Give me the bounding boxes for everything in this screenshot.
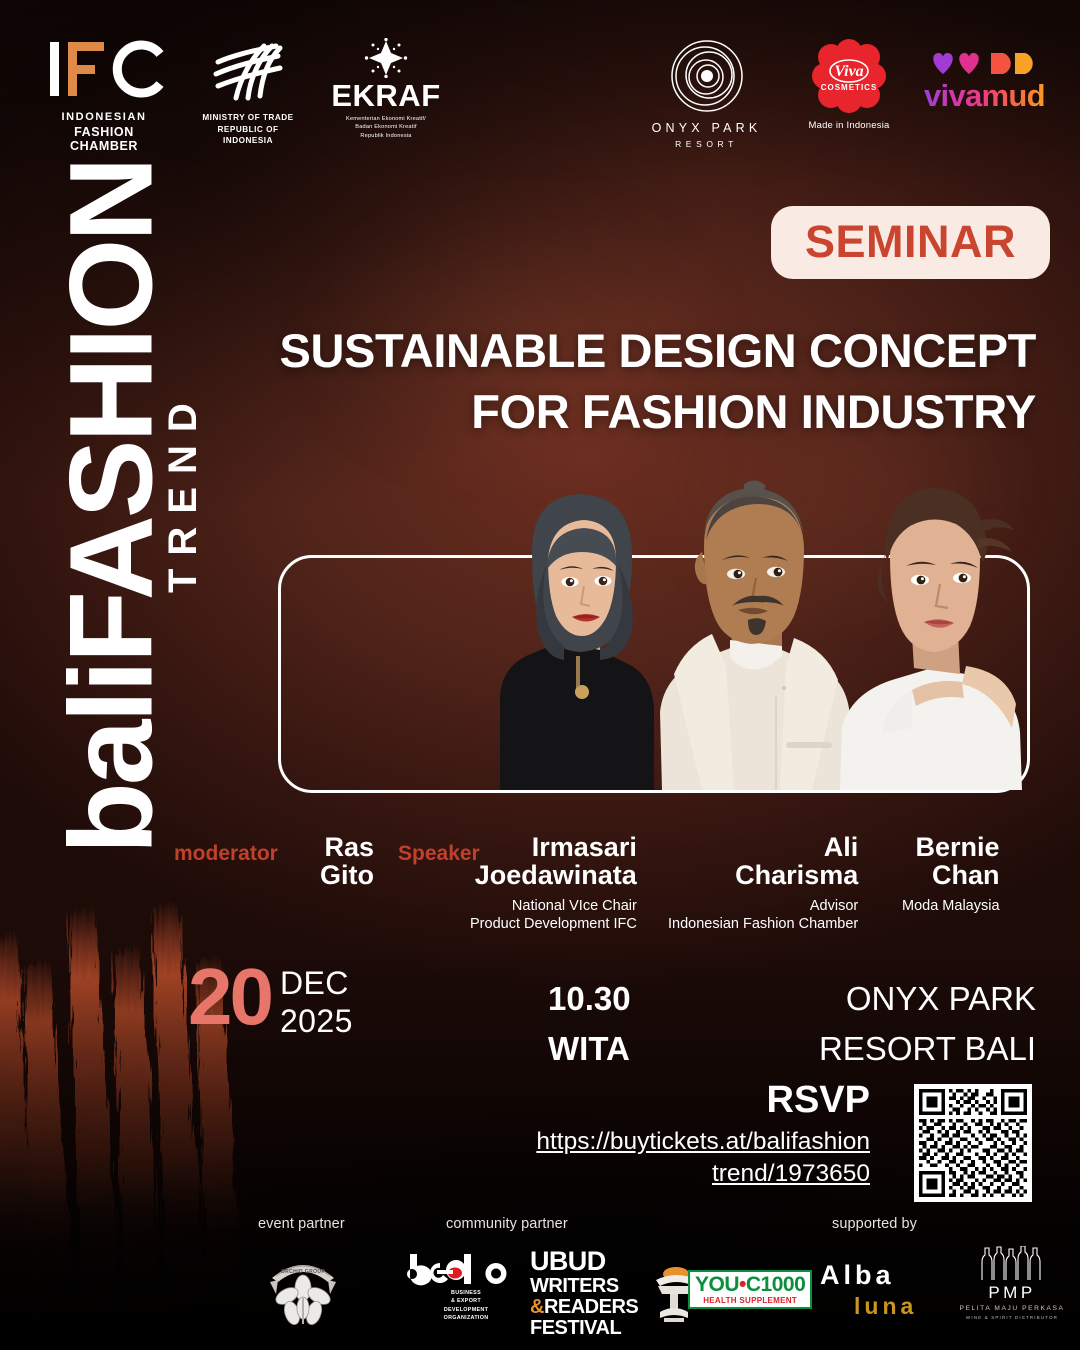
logo-onyx-park-resort: ONYX PARK RESORT xyxy=(639,38,774,149)
role-moderator: moderator xyxy=(174,842,278,866)
rsvp-qr-code[interactable] xyxy=(914,1084,1032,1202)
ubud-line-3: &READERS xyxy=(530,1297,638,1317)
onyx-wordmark: ONYX PARK xyxy=(639,121,774,135)
organizer-logo-group: INDONESIAN FASHION CHAMBER MINISTRY OF T… xyxy=(42,38,442,153)
headline-line-1: SUSTAINABLE DESIGN CONCEPT xyxy=(276,320,1036,381)
rsvp-link[interactable]: https://buytickets.at/balifashion trend/… xyxy=(490,1126,870,1190)
ubud-wordmark: UBUD WRITERS &READERS FESTIVAL xyxy=(530,1248,638,1338)
logo-ubud-writers-readers-festival: UBUD WRITERS &READERS FESTIVAL xyxy=(530,1248,704,1338)
viva-flower-icon: Viva COSMETICS xyxy=(807,38,891,114)
label-supported-by: supported by xyxy=(832,1216,917,1232)
bedo-wordmark-icon xyxy=(406,1252,526,1286)
event-details-row: 20 DEC 2025 10.30 WITA ONYX PARK RESORT … xyxy=(0,960,1080,1060)
date-day: 20 xyxy=(188,960,271,1034)
rsvp-text-block: RSVP https://buytickets.at/balifashion t… xyxy=(490,1080,870,1189)
ekraf-sub2: Badan Ekonomi Kreatif xyxy=(330,123,442,131)
ubud-line-4: FESTIVAL xyxy=(530,1318,638,1338)
svg-text:ORCHID GROUP: ORCHID GROUP xyxy=(281,1269,326,1275)
speaker-title-line1: Advisor xyxy=(668,897,858,916)
page-title: SUSTAINABLE DESIGN CONCEPT FOR FASHION I… xyxy=(276,320,1036,442)
logo-pmp: PMP PELITA MAJU PERKASA WINE & SPIRIT DI… xyxy=(958,1246,1066,1320)
logo-orchid-group: ORCHID GROUP xyxy=(262,1248,344,1335)
venue-line-2: RESORT BALI xyxy=(819,1024,1036,1074)
ekraf-sub3: Republik Indonesia xyxy=(330,132,442,140)
bedo-sub4: ORGANIZATION xyxy=(406,1314,526,1322)
ifc-mark-icon xyxy=(42,38,166,100)
brand-title-main: baliFASHION xyxy=(58,214,167,854)
pmp-sub-2: WINE & SPIRIT DISTRIBUTOR xyxy=(958,1315,1066,1320)
logo-alba-luna: Alba luna xyxy=(820,1262,917,1318)
speaker-name-line2: Charisma xyxy=(668,862,858,890)
event-date: 20 DEC 2025 xyxy=(188,960,353,1038)
time-zone: WITA xyxy=(548,1024,631,1074)
rsvp-heading: RSVP xyxy=(490,1080,870,1122)
logo-indonesian-fashion-chamber: INDONESIAN FASHION CHAMBER xyxy=(42,38,166,153)
speaker-block-ali-charisma: Ali Charisma Advisor Indonesian Fashion … xyxy=(668,834,858,934)
label-event-partner: event partner xyxy=(258,1216,345,1232)
svg-text:COSMETICS: COSMETICS xyxy=(821,83,878,92)
onyx-sub: RESORT xyxy=(639,139,774,149)
ekraf-star-icon xyxy=(364,38,408,78)
youc-word-a: YOU xyxy=(695,1273,739,1296)
event-time: 10.30 WITA xyxy=(548,974,631,1073)
speaker-title-line1: Moda Malaysia xyxy=(902,897,1000,916)
luna-wordmark: luna xyxy=(854,1295,917,1318)
date-month: DEC xyxy=(280,967,353,1001)
logo-you-c1000: YOU•C1000 HEALTH SUPPLEMENT xyxy=(688,1270,812,1309)
partner-logo-group: ONYX PARK RESORT Viva COSMETICS M xyxy=(639,38,1046,149)
youc-wordmark: YOU•C1000 xyxy=(695,1274,805,1295)
speaker-photo-bernie-chan xyxy=(816,460,1040,790)
date-year: 2025 xyxy=(280,1005,353,1039)
brand-title-sub: TREND xyxy=(163,263,203,593)
speaker-name-line1: Irmasari xyxy=(470,834,637,862)
speaker-credits-row: moderator Ras Gito Speaker Irmasari Joed… xyxy=(160,818,1060,930)
bedo-sub2: & EXPORT xyxy=(406,1297,526,1305)
venue-line-1: ONYX PARK xyxy=(819,974,1036,1024)
pmp-wordmark: PMP xyxy=(958,1284,1066,1301)
vivamuda-hearts-icon xyxy=(929,50,1041,76)
speaker-name-line2: Joedawinata xyxy=(470,862,637,890)
role-speaker: Speaker xyxy=(398,842,480,866)
vivamuda-wordmark: vivamuda xyxy=(924,80,1046,111)
logo-viva-cosmetics: Viva COSMETICS Made in Indonesia xyxy=(800,38,898,131)
speaker-block-bernie-chan: Bernie Chan Moda Malaysia xyxy=(902,834,1000,915)
ekraf-sub1: Kementerian Ekonomi Kreatif/ xyxy=(330,115,442,123)
mot-sub2: REPUBLIC OF INDONESIA xyxy=(196,124,300,146)
poster-canvas: INDONESIAN FASHION CHAMBER MINISTRY OF T… xyxy=(0,0,1080,1350)
speaker-name-line1: Ras xyxy=(320,834,374,862)
onyx-spiral-icon xyxy=(659,38,755,114)
label-community-partner: community partner xyxy=(446,1216,568,1232)
pmp-sub-1: PELITA MAJU PERKASA xyxy=(958,1305,1066,1312)
youc-sub: HEALTH SUPPLEMENT xyxy=(695,1296,805,1306)
logo-ekraf: EKRAF Kementerian Ekonomi Kreatif/ Badan… xyxy=(330,38,442,140)
speaker-block-ras-gito: Ras Gito xyxy=(320,834,374,890)
viva-caption: Made in Indonesia xyxy=(800,120,898,131)
ubud-line-3-text: READERS xyxy=(544,1296,638,1318)
ubud-ampersand: & xyxy=(530,1296,544,1318)
moderator-role-label: moderator xyxy=(174,842,278,866)
mot-sub1: MINISTRY OF TRADE xyxy=(196,112,300,123)
ifc-sub2: FASHION CHAMBER xyxy=(42,125,166,153)
bedo-sub3: DEVELOPMENT xyxy=(406,1306,526,1314)
logo-ministry-of-trade: MINISTRY OF TRADE REPUBLIC OF INDONESIA xyxy=(196,38,300,146)
speaker-name-line1: Bernie xyxy=(902,834,1000,862)
ubud-line-1: UBUD xyxy=(530,1248,638,1275)
vertical-brand-title: baliFASHION TREND xyxy=(0,180,230,840)
ministry-of-trade-mark-icon xyxy=(196,40,300,102)
qr-code-icon xyxy=(919,1089,1027,1197)
rsvp-url-line-2: trend/1973650 xyxy=(712,1160,870,1187)
event-venue: ONYX PARK RESORT BALI xyxy=(819,974,1036,1073)
orchid-group-icon: ORCHID GROUP xyxy=(262,1248,344,1330)
seminar-badge: SEMINAR xyxy=(771,206,1050,279)
youc-word-b: C1000 xyxy=(746,1273,805,1296)
speaker-photo-group xyxy=(440,460,1040,790)
speaker-name-line2: Gito xyxy=(320,862,374,890)
sponsor-logo-bar: INDONESIAN FASHION CHAMBER MINISTRY OF T… xyxy=(0,38,1080,158)
speaker-title-line2: Indonesian Fashion Chamber xyxy=(668,915,858,934)
speaker-title-line2: Product Development IFC xyxy=(470,915,637,934)
bedo-sub1: BUSINESS xyxy=(406,1289,526,1297)
ifc-sub1: INDONESIAN xyxy=(42,111,166,123)
speaker-name-line1: Ali xyxy=(668,834,858,862)
ubud-line-2: WRITERS xyxy=(530,1276,638,1296)
speaker-title-line1: National VIce Chair xyxy=(470,897,637,916)
time-value: 10.30 xyxy=(548,974,631,1024)
svg-text:Viva: Viva xyxy=(834,63,863,80)
rsvp-url-line-1: https://buytickets.at/balifashion xyxy=(536,1128,870,1155)
ekraf-wordmark: EKRAF xyxy=(330,80,442,111)
youc-dot: • xyxy=(739,1273,746,1296)
speaker-role-label: Speaker xyxy=(398,842,480,866)
speaker-block-irmasari: Irmasari Joedawinata National VIce Chair… xyxy=(470,834,637,934)
logo-vivamuda: vivamuda xyxy=(924,38,1046,111)
footer-partners: event partner community partner supporte… xyxy=(0,1216,1080,1350)
logo-bedo: BUSINESS & EXPORT DEVELOPMENT ORGANIZATI… xyxy=(406,1252,526,1323)
pmp-bottles-icon xyxy=(974,1246,1050,1280)
rsvp-section: RSVP https://buytickets.at/balifashion t… xyxy=(480,1080,1040,1200)
alba-wordmark: Alba xyxy=(820,1262,917,1289)
speaker-name-line2: Chan xyxy=(902,862,1000,890)
headline-line-2: FOR FASHION INDUSTRY xyxy=(276,381,1036,442)
